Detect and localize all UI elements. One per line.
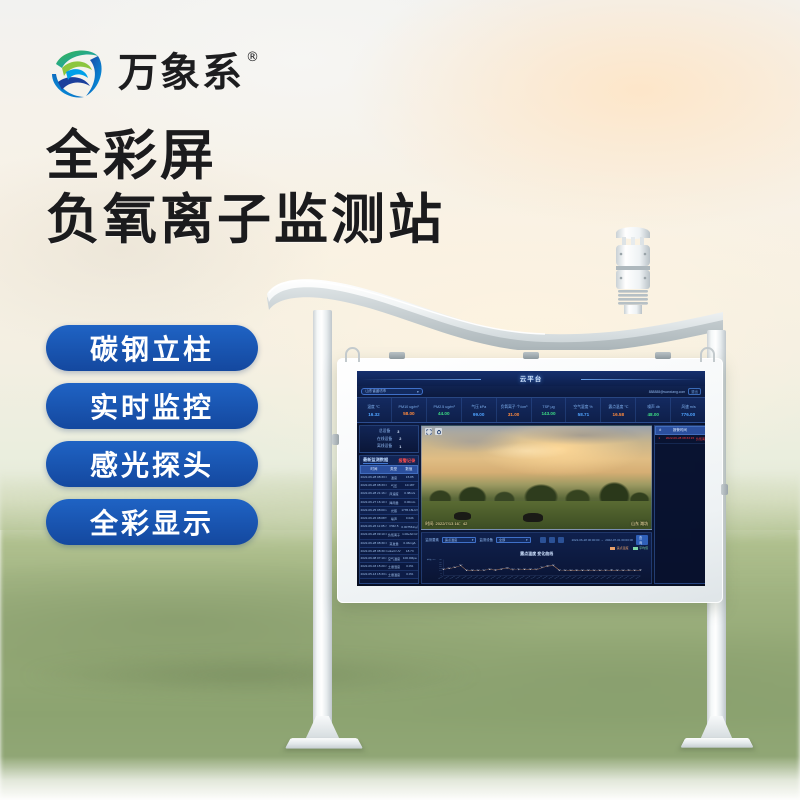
stat-total-devices: 总设备 3 bbox=[364, 429, 414, 434]
legend-label: 平均值 bbox=[639, 546, 648, 550]
chart-point-label: 11.2 bbox=[558, 569, 562, 570]
cabinet-mount-bracket bbox=[389, 352, 405, 359]
cell-type: 风速度 bbox=[387, 491, 400, 498]
cell-time: 2022-06-25 08:00:26 bbox=[361, 507, 387, 514]
cell-type: 空气温度 bbox=[387, 555, 400, 562]
screen-title-bar: 云平台 bbox=[357, 371, 705, 386]
cell-time: 2022-06-03 15:20:38 bbox=[361, 563, 387, 570]
cell-time: 2022-06-28 09:10:18 bbox=[361, 531, 387, 538]
chart-x-tick: 06-28 08 bbox=[479, 576, 486, 580]
metric-value: 44.00 bbox=[438, 411, 450, 416]
stat-label: 在线设备 bbox=[377, 437, 392, 442]
metric-value: 16.32 bbox=[368, 412, 380, 417]
metric-label: TSP μg bbox=[542, 404, 554, 409]
chevron-down-icon: ▾ bbox=[526, 538, 528, 542]
metric-pm10: PM10 ug/m³ 58.00 bbox=[392, 398, 427, 422]
chart-y-tick: 30 bbox=[440, 562, 442, 563]
chart-point-label: 11.1 bbox=[471, 569, 475, 570]
latest-data-column-headers: 时间 类型 数值 bbox=[360, 465, 418, 474]
cell-time: 2022-06-28 08:33:15 bbox=[361, 474, 387, 481]
chart-point-label: 21.8 bbox=[459, 564, 463, 565]
factor-label: 监测要素 bbox=[425, 537, 439, 542]
cell-type: solar4 UV bbox=[387, 548, 400, 554]
range-start: 2022-06-28 00:00:00 bbox=[572, 538, 600, 542]
cabinet-side-bolt bbox=[332, 434, 339, 445]
chart-x-tick: 06-29 07 bbox=[612, 576, 619, 580]
expand-icon[interactable] bbox=[425, 428, 432, 435]
chart-point-label: 17.4 bbox=[454, 566, 458, 567]
chart-title: 露点温度 变化曲线 bbox=[422, 551, 651, 557]
alarm-panel: # 报警时间 报警内容 12022-06-28 08:33:15负氧离子浓度低于… bbox=[654, 425, 705, 584]
metric-value: 58.00 bbox=[403, 411, 415, 416]
cabinet-mount-bracket bbox=[523, 352, 539, 359]
chart-point-label: 12.1 bbox=[512, 568, 516, 569]
table-row[interactable]: 2022-06-26 11:05:30PM2.50.007561/㎥ bbox=[360, 523, 418, 531]
chart-x-tick: 06-29 06 bbox=[606, 576, 613, 580]
chart-point-label: 11.1 bbox=[616, 569, 620, 570]
chart-point-label: 11.1 bbox=[575, 569, 579, 570]
chart-point-label: 11.5 bbox=[610, 569, 614, 570]
chart-point-label: 12.5 bbox=[529, 568, 533, 569]
chevron-down-icon: ▾ bbox=[472, 538, 474, 542]
alarm-cell-time: 2022-06-28 08:33:15 bbox=[664, 436, 695, 443]
chart-x-tick: 06-28 14 bbox=[514, 576, 521, 580]
screen-body: 总设备 3 在线设备 2 离线设备 1 bbox=[357, 423, 705, 586]
chart-x-tick: 06-28 17 bbox=[531, 576, 538, 580]
range-end: 2022-07-01 00:00:00 bbox=[605, 538, 633, 542]
cell-value: 1735.16LUX bbox=[401, 507, 418, 514]
chart-x-tick: 06-28 05 bbox=[461, 576, 468, 580]
cell-value: 0.00mm bbox=[401, 499, 418, 506]
site-select-value: 山东省潍坊市 bbox=[365, 389, 386, 394]
logout-button[interactable]: 退出 bbox=[688, 388, 701, 395]
chart-y-axis-label: 单位(℃) bbox=[427, 558, 436, 561]
table-row[interactable]: 2022-06-28 08:33:15气压10.187 bbox=[360, 482, 418, 490]
chart-point-label: 13.6 bbox=[500, 568, 504, 569]
stat-count: 1 bbox=[399, 445, 401, 449]
cell-type: 土壤湿度 bbox=[387, 563, 400, 570]
cell-type: 温度 bbox=[387, 474, 400, 481]
cell-time: 2022-06-27 16:10:11 bbox=[361, 499, 387, 506]
cell-value: 18.73 bbox=[401, 548, 418, 554]
chart-point-label: 12.8 bbox=[488, 568, 492, 569]
cell-type: 蒸发量 bbox=[387, 540, 400, 547]
factor-select-value: 露点温度 bbox=[445, 537, 457, 542]
table-row[interactable]: 2022-06-28 09:10:18负氧离子1.00e3/cm³ bbox=[360, 531, 418, 539]
metric-dew-point: 露点温度 ℃ 16.58 bbox=[601, 398, 636, 422]
metric-humidity: 空气湿度 % 58.71 bbox=[566, 398, 601, 422]
chart-controls: 监测要素 露点温度 ▾ 监测设备 全部 ▾ bbox=[422, 533, 651, 546]
chart-point-label: 21.4 bbox=[552, 564, 556, 565]
chart-point-label: 12.2 bbox=[535, 568, 539, 569]
cell-time: 2022-06-26 08:08:58 bbox=[361, 515, 387, 522]
cell-time: 2022-06-28 08:33:15 bbox=[361, 482, 387, 489]
metric-label: 气压 kPa bbox=[471, 404, 486, 410]
table-row[interactable]: 2022-06-28 21:16:40:08风速度0.38m/s bbox=[360, 490, 418, 498]
chart-plot-area: 单位(℃)0510152025303513.215.117.421.810.91… bbox=[426, 558, 647, 581]
chart-point-label: 11.0 bbox=[564, 569, 568, 570]
chart-x-tick: 06-28 07 bbox=[473, 576, 480, 580]
cell-time: 2022-06-28 08:30:10 bbox=[361, 548, 387, 554]
chart-x-tick: 06-28 04 bbox=[456, 576, 463, 580]
chart-point-label: 12.4 bbox=[517, 568, 521, 569]
chart-x-tick: 06-28 19 bbox=[543, 576, 550, 580]
stat-count: 2 bbox=[399, 437, 401, 441]
table-row[interactable]: 2022-06-27 16:10:11降雨量0.00mm bbox=[360, 499, 418, 507]
legend-label: 露点温度 bbox=[617, 546, 629, 550]
feed-toolbar bbox=[425, 428, 442, 435]
metric-pm25: PM2.5 ug/m³ 44.00 bbox=[427, 398, 462, 422]
chart-legend: 露点温度 平均值 bbox=[422, 546, 651, 550]
chart-view-buttons bbox=[540, 537, 564, 543]
alarm-column-content: 报警内容 bbox=[695, 427, 705, 434]
cabinet-side-bolt bbox=[721, 484, 728, 495]
chart-x-tick: 06-29 08 bbox=[618, 576, 625, 580]
feed-cow bbox=[523, 513, 543, 522]
chart-point-label: 10.9 bbox=[581, 569, 585, 570]
chart-x-tick: 06-28 02 bbox=[444, 576, 451, 580]
column-header-value: 数值 bbox=[400, 466, 417, 473]
chart-y-tick: 25 bbox=[440, 564, 442, 565]
latest-data-title: 最新监测数据 bbox=[363, 457, 388, 464]
chart-point-label: 16.2 bbox=[506, 567, 510, 568]
feed-treeline bbox=[422, 465, 651, 502]
alarm-row[interactable]: 12022-06-28 08:33:15负氧离子浓度低于设定阈值，请注意！ bbox=[655, 435, 705, 444]
chart-y-tick: 0 bbox=[441, 575, 442, 576]
led-screen: 云平台 山东省潍坊市 ▾ 888888@wanxiang.com 退出 bbox=[357, 371, 705, 586]
cell-type: 光照 bbox=[387, 507, 400, 514]
cell-value: 0.0% bbox=[401, 571, 418, 578]
latest-data-header: 最新监测数据 报警记录 bbox=[360, 456, 418, 465]
support-post-left bbox=[313, 310, 332, 730]
metric-tsp: TSP μg 143.00 bbox=[532, 398, 567, 422]
metric-value: 99.00 bbox=[473, 412, 485, 417]
post-base-gusset-left bbox=[305, 716, 340, 740]
latest-data-rows: 2022-06-28 08:33:15温度15.852022-06-28 08:… bbox=[360, 474, 418, 583]
cell-type: 降雨量 bbox=[387, 499, 400, 506]
metric-label: 负氧离子 个/cm³ bbox=[500, 404, 527, 410]
table-row[interactable]: 2022-06-03 15:20:38土壤湿度0.0% bbox=[360, 563, 418, 571]
bar-chart-icon[interactable] bbox=[549, 537, 555, 543]
chart-point-label: 13.1 bbox=[523, 568, 527, 569]
metric-negative-oxygen-ions: 负氧离子 个/cm³ 31.00 bbox=[497, 398, 532, 422]
date-range[interactable]: 2022-06-28 00:00:00 ~ 2022-07-01 00:00:0… bbox=[572, 538, 633, 542]
cell-type: 土壤温度 bbox=[387, 571, 400, 578]
metric-label: 风速 m/s bbox=[681, 404, 695, 410]
metric-value: 48.00 bbox=[647, 412, 659, 417]
cell-value: 0.46mg/L bbox=[401, 540, 418, 547]
chevron-down-icon: ▾ bbox=[417, 390, 419, 394]
site-select-dropdown[interactable]: 山东省潍坊市 ▾ bbox=[361, 388, 423, 395]
legend-swatch bbox=[610, 547, 615, 550]
chart-point-label: 16.9 bbox=[541, 566, 545, 567]
metric-value: 58.71 bbox=[578, 412, 590, 417]
chart-x-tick: 06-28 13 bbox=[508, 576, 515, 580]
chart-x-tick: 06-28 16 bbox=[525, 576, 532, 580]
ultrasonic-weather-sensor-icon bbox=[605, 222, 661, 314]
column-header-time: 时间 bbox=[361, 466, 387, 473]
chart-x-tick: 06-29 00 bbox=[572, 576, 579, 580]
metric-wind-speed: 风速 m/s 776.00 bbox=[671, 398, 705, 422]
snapshot-icon[interactable] bbox=[435, 428, 442, 435]
feed-cow bbox=[454, 512, 471, 520]
chart-x-tick: 06-28 23 bbox=[566, 576, 573, 580]
chart-x-tick: 06-29 02 bbox=[583, 576, 590, 580]
chart-x-tick: 06-28 15 bbox=[519, 576, 526, 580]
chart-x-tick: 06-28 21 bbox=[554, 576, 561, 580]
alarm-rows: 12022-06-28 08:33:15负氧离子浓度低于设定阈值，请注意！ bbox=[655, 435, 705, 583]
cell-value: 1.00e3/cm³ bbox=[401, 531, 418, 538]
stat-count: 3 bbox=[397, 430, 399, 434]
legend-swatch bbox=[633, 547, 638, 550]
table-row[interactable]: 2022-06-08 07:10:47空气温度100.0Mpa bbox=[360, 555, 418, 563]
cell-value: 0.0% bbox=[401, 563, 418, 570]
cell-value: 0.007561/㎥ bbox=[401, 523, 418, 530]
table-row[interactable]: 2022-06-28 08:30:10蒸发量0.46mg/L bbox=[360, 540, 418, 548]
alarm-column-headers: # 报警时间 报警内容 bbox=[655, 426, 705, 435]
chart-y-tick: 10 bbox=[440, 571, 442, 572]
alarm-cell-content: 负氧离子浓度低于设定阈值，请注意！ bbox=[696, 436, 705, 443]
device-label: 监测设备 bbox=[479, 537, 493, 542]
stat-offline-devices: 离线设备 1 bbox=[364, 444, 414, 449]
chart-x-tick: 06-29 10 bbox=[630, 576, 637, 580]
cell-type: 负氧离子 bbox=[387, 531, 400, 538]
cell-value: 100.0Mpa bbox=[401, 555, 418, 562]
user-area: 888888@wanxiang.com 退出 bbox=[649, 388, 701, 395]
product-banner: 万象系 ® 全彩屏 负氧离子监测站 碳钢立柱 实时监控 感光探头 全彩显示 bbox=[0, 0, 800, 800]
chart-point-label: 10.7 bbox=[599, 569, 603, 570]
chart-point-label: 11.2 bbox=[604, 569, 608, 570]
cell-time: 2022-06-26 11:05:30 bbox=[361, 523, 387, 530]
chart-point-label: 11.2 bbox=[483, 569, 487, 570]
screen-title: 云平台 bbox=[357, 373, 705, 383]
chart-x-tick: 06-29 01 bbox=[577, 576, 584, 580]
center-column: 时间: 2022/7/13 16：42 山东 潍坊 监测要素 露点温度 ▾ 监测… bbox=[421, 425, 652, 584]
metric-label: 空气湿度 % bbox=[574, 404, 593, 410]
line-chart-icon[interactable] bbox=[540, 537, 546, 543]
chart-x-tick: 06-29 04 bbox=[595, 576, 602, 580]
trend-chart-panel: 监测要素 露点温度 ▾ 监测设备 全部 ▾ bbox=[421, 532, 652, 584]
cabinet-mount-bracket bbox=[655, 352, 671, 359]
metric-strip: 温度 ℃ 16.32 PM10 ug/m³ 58.00 PM2.5 ug/m³ … bbox=[357, 397, 705, 423]
chart-point-label: 11.0 bbox=[477, 569, 481, 570]
chart-x-tick: 06-28 03 bbox=[450, 576, 457, 580]
chart-x-tick: 06-29 09 bbox=[624, 576, 631, 580]
chart-y-tick: 5 bbox=[441, 573, 442, 574]
legend-item: 平均值 bbox=[633, 546, 649, 550]
user-name: 888888@wanxiang.com bbox=[649, 390, 685, 394]
monitoring-station: 云平台 山东省潍坊市 ▾ 888888@wanxiang.com 退出 bbox=[0, 0, 800, 800]
device-select-value: 全部 bbox=[499, 537, 505, 542]
chart-x-tick: 06-28 10 bbox=[490, 576, 497, 580]
chart-point-label: 20.6 bbox=[546, 565, 550, 566]
metric-value: 31.00 bbox=[508, 412, 520, 417]
alarm-column-time: 报警时间 bbox=[664, 427, 695, 434]
cell-time: 2022-06-08 07:10:47 bbox=[361, 555, 387, 562]
stat-label: 总设备 bbox=[379, 429, 390, 434]
post-base-gusset-right bbox=[700, 716, 733, 740]
chart-point-label: 11.4 bbox=[628, 569, 632, 570]
left-column: 总设备 3 在线设备 2 离线设备 1 bbox=[359, 425, 419, 584]
feed-watermark: 山东 潍坊 bbox=[631, 521, 648, 527]
bottom-fade bbox=[0, 756, 800, 800]
cell-value: 10.187 bbox=[401, 482, 418, 489]
cell-type: PM2.5 bbox=[387, 523, 400, 530]
chart-x-tick: 06-28 12 bbox=[502, 576, 509, 580]
table-view-icon[interactable] bbox=[558, 537, 564, 543]
column-header-type: 类型 bbox=[387, 466, 401, 473]
chart-x-tick: 06-29 11 bbox=[635, 576, 642, 580]
post-base-plate-left bbox=[285, 738, 363, 748]
cell-value: 15.85 bbox=[401, 474, 418, 481]
metric-noise: 噪声 db 48.00 bbox=[636, 398, 671, 422]
post-base-plate-right bbox=[680, 738, 753, 748]
metric-label: 露点温度 ℃ bbox=[608, 404, 628, 410]
metric-label: 噪声 db bbox=[647, 404, 660, 410]
camera-feed[interactable]: 时间: 2022/7/13 16：42 山东 潍坊 bbox=[421, 425, 652, 530]
metric-value: 16.58 bbox=[613, 412, 625, 417]
table-row[interactable]: 2022-06-28 08:30:10solar4 UV18.73 bbox=[360, 548, 418, 555]
legend-item: 露点温度 bbox=[610, 546, 629, 550]
screen-sub-bar: 山东省潍坊市 ▾ 888888@wanxiang.com 退出 bbox=[357, 386, 705, 397]
cell-type: 噪声 bbox=[387, 515, 400, 522]
cell-time: 2022-06-28 08:30:10 bbox=[361, 540, 387, 547]
metric-value: 776.00 bbox=[681, 412, 695, 417]
table-row[interactable]: 2022-06-26 08:08:58噪声0.0db bbox=[360, 515, 418, 523]
stat-label: 离线设备 bbox=[377, 444, 392, 449]
chart-x-tick: 06-28 18 bbox=[537, 576, 544, 580]
metric-value: 143.00 bbox=[541, 411, 555, 416]
cell-value: 0.0db bbox=[401, 515, 418, 522]
chart-x-tick: 06-29 05 bbox=[601, 576, 608, 580]
chart-point-label: 11.6 bbox=[639, 569, 643, 570]
chart-x-tick: 06-28 20 bbox=[548, 576, 555, 580]
latest-data-panel: 最新监测数据 报警记录 时间 类型 数值 2022-06-28 08:33:15… bbox=[359, 455, 419, 584]
table-row[interactable]: 2022-06-28 08:33:15温度15.85 bbox=[360, 474, 418, 482]
chart-x-tick: 06-29 03 bbox=[589, 576, 596, 580]
metric-label: PM10 ug/m³ bbox=[399, 404, 419, 409]
cell-value: 0.38m/s bbox=[401, 491, 418, 498]
factor-select[interactable]: 露点温度 ▾ bbox=[442, 537, 477, 543]
metric-label: PM2.5 ug/m³ bbox=[433, 404, 454, 409]
range-separator: ~ bbox=[601, 538, 603, 542]
device-stats-panel: 总设备 3 在线设备 2 离线设备 1 bbox=[359, 425, 419, 453]
chart-point-label: 11.0 bbox=[633, 569, 637, 570]
device-select[interactable]: 全部 ▾ bbox=[496, 537, 531, 543]
cell-time: 2022-06-28 21:16:40:08 bbox=[361, 491, 387, 498]
table-row[interactable]: 2022-05-13 15:33:28土壤温度0.0% bbox=[360, 571, 418, 579]
chart-point-label: 11.4 bbox=[494, 569, 498, 570]
chart-x-tick: 06-28 09 bbox=[485, 576, 492, 580]
metric-pressure: 气压 kPa 99.00 bbox=[462, 398, 497, 422]
cabinet-hook-left bbox=[345, 347, 360, 362]
chart-point-label: 11.0 bbox=[593, 569, 597, 570]
chart-x-tick: 06-28 11 bbox=[496, 576, 503, 580]
query-button[interactable]: 查询 bbox=[636, 535, 648, 545]
cell-time: 2022-05-13 15:33:28 bbox=[361, 571, 387, 578]
cabinet-hook-right bbox=[700, 347, 715, 362]
chart-point-label: 10.9 bbox=[622, 569, 626, 570]
feed-timestamp: 时间: 2022/7/13 16：42 bbox=[425, 521, 467, 527]
cell-type: 气压 bbox=[387, 482, 400, 489]
metric-temperature: 温度 ℃ 16.32 bbox=[357, 398, 392, 422]
chart-point-label: 10.8 bbox=[570, 569, 574, 570]
chart-point-label: 15.1 bbox=[448, 567, 452, 568]
chart-y-tick: 20 bbox=[440, 566, 442, 567]
alarm-column-index: # bbox=[656, 427, 664, 434]
stat-online-devices: 在线设备 2 bbox=[364, 437, 414, 442]
chart-x-tick: 06-28 06 bbox=[467, 576, 474, 580]
chart-x-tick: 06-28 22 bbox=[560, 576, 567, 580]
alarm-cell-index: 1 bbox=[655, 436, 663, 443]
table-row[interactable]: 2022-06-25 08:00:26光照1735.16LUX bbox=[360, 507, 418, 515]
metric-label: 温度 ℃ bbox=[368, 404, 381, 410]
chart-y-tick: 35 bbox=[440, 559, 442, 560]
chart-point-label: 11.3 bbox=[587, 569, 591, 570]
alarm-records-link[interactable]: 报警记录 bbox=[399, 458, 416, 464]
